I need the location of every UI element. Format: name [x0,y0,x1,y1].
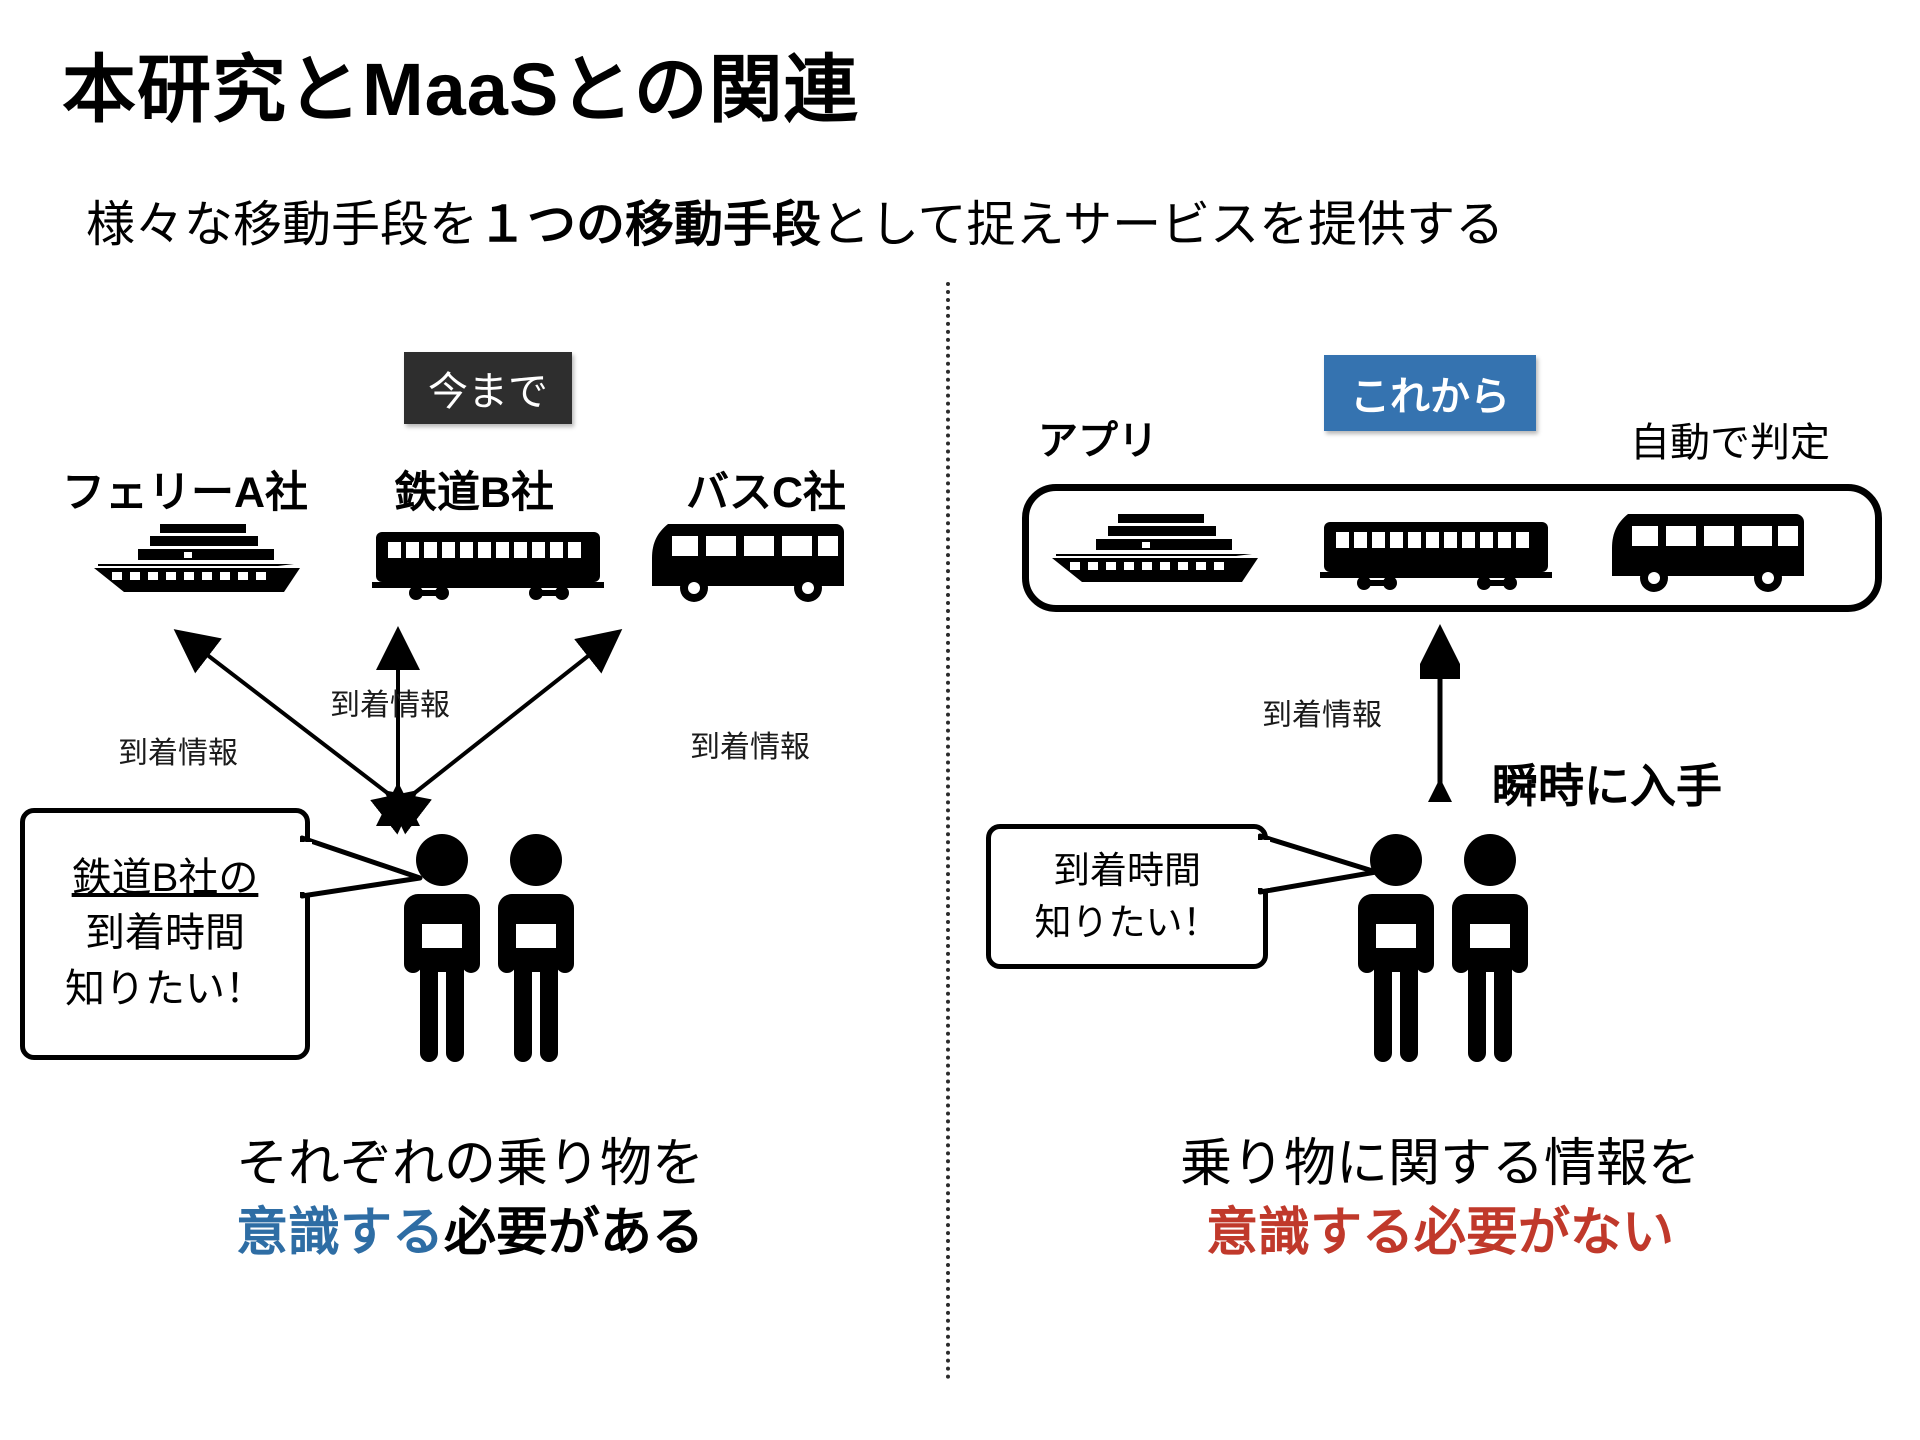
operator-label-train: 鉄道B社 [394,458,554,520]
subtitle-emphasis: １つの移動手段 [478,198,821,252]
arrow-label-train: 到着情報 [330,680,450,724]
badge-future: これから [1324,355,1536,431]
speech-bubble-right: 到着時間 知りたい！ [986,824,1268,969]
caption-left-line1: それぞれの乗り物を [170,1130,770,1199]
instant-label: 瞬時に入手 [1492,750,1722,816]
caption-right: 乗り物に関する情報を 意識する必要がない [1120,1130,1760,1267]
caption-right-line1: 乗り物に関する情報を [1120,1130,1760,1199]
caption-right-accent: 意識する必要がない [1120,1199,1760,1268]
arrow-label-bus: 到着情報 [690,722,810,766]
badge-now: 今まで [404,352,572,424]
right-double-arrow [1420,620,1460,802]
people-group-left [396,830,596,1070]
auto-detect-label: 自動で判定 [1630,410,1830,468]
bus-icon [650,514,846,606]
bubble-left-line1: 鉄道B社の [72,851,259,906]
operator-label-ferry: フェリーA社 [62,458,308,520]
badge-future-label: これから [1350,364,1510,422]
operator-label-bus: バスC社 [686,458,846,520]
train-icon [372,528,604,600]
ferry-icon [1046,512,1268,590]
bus-icon [1610,504,1806,596]
arrow-label-right: 到着情報 [1262,690,1382,734]
badge-now-label: 今まで [428,359,548,417]
page-title: 本研究とMaaSとの関連 [62,30,859,137]
people-group-right [1350,830,1550,1070]
caption-left-accent: 意識する [236,1204,444,1262]
bubble-left-line3: 知りたい！ [65,962,265,1017]
page-subtitle: 様々な移動手段を１つの移動手段として捉えサービスを提供する [86,185,1504,256]
caption-left-rest: 必要がある [444,1204,704,1262]
bubble-left-line2: 到着時間 [85,906,245,961]
slide-root: 本研究とMaaSとの関連 様々な移動手段を１つの移動手段として捉えサービスを提供… [0,0,1920,1440]
arrow-label-ferry: 到着情報 [118,728,238,772]
speech-bubble-left: 鉄道B社の 到着時間 知りたい！ [20,808,310,1060]
bubble-right-line2: 知りたい！ [1035,897,1220,948]
subtitle-part1: 様々な移動手段を [86,198,478,252]
app-label: アプリ [1038,408,1158,466]
caption-left: それぞれの乗り物を 意識する必要がある [170,1130,770,1267]
bubble-right-line1: 到着時間 [1053,845,1201,896]
panel-divider [946,282,950,1380]
subtitle-part2: として捉えサービスを提供する [821,198,1504,252]
train-icon [1320,518,1552,590]
ferry-icon [88,522,310,600]
